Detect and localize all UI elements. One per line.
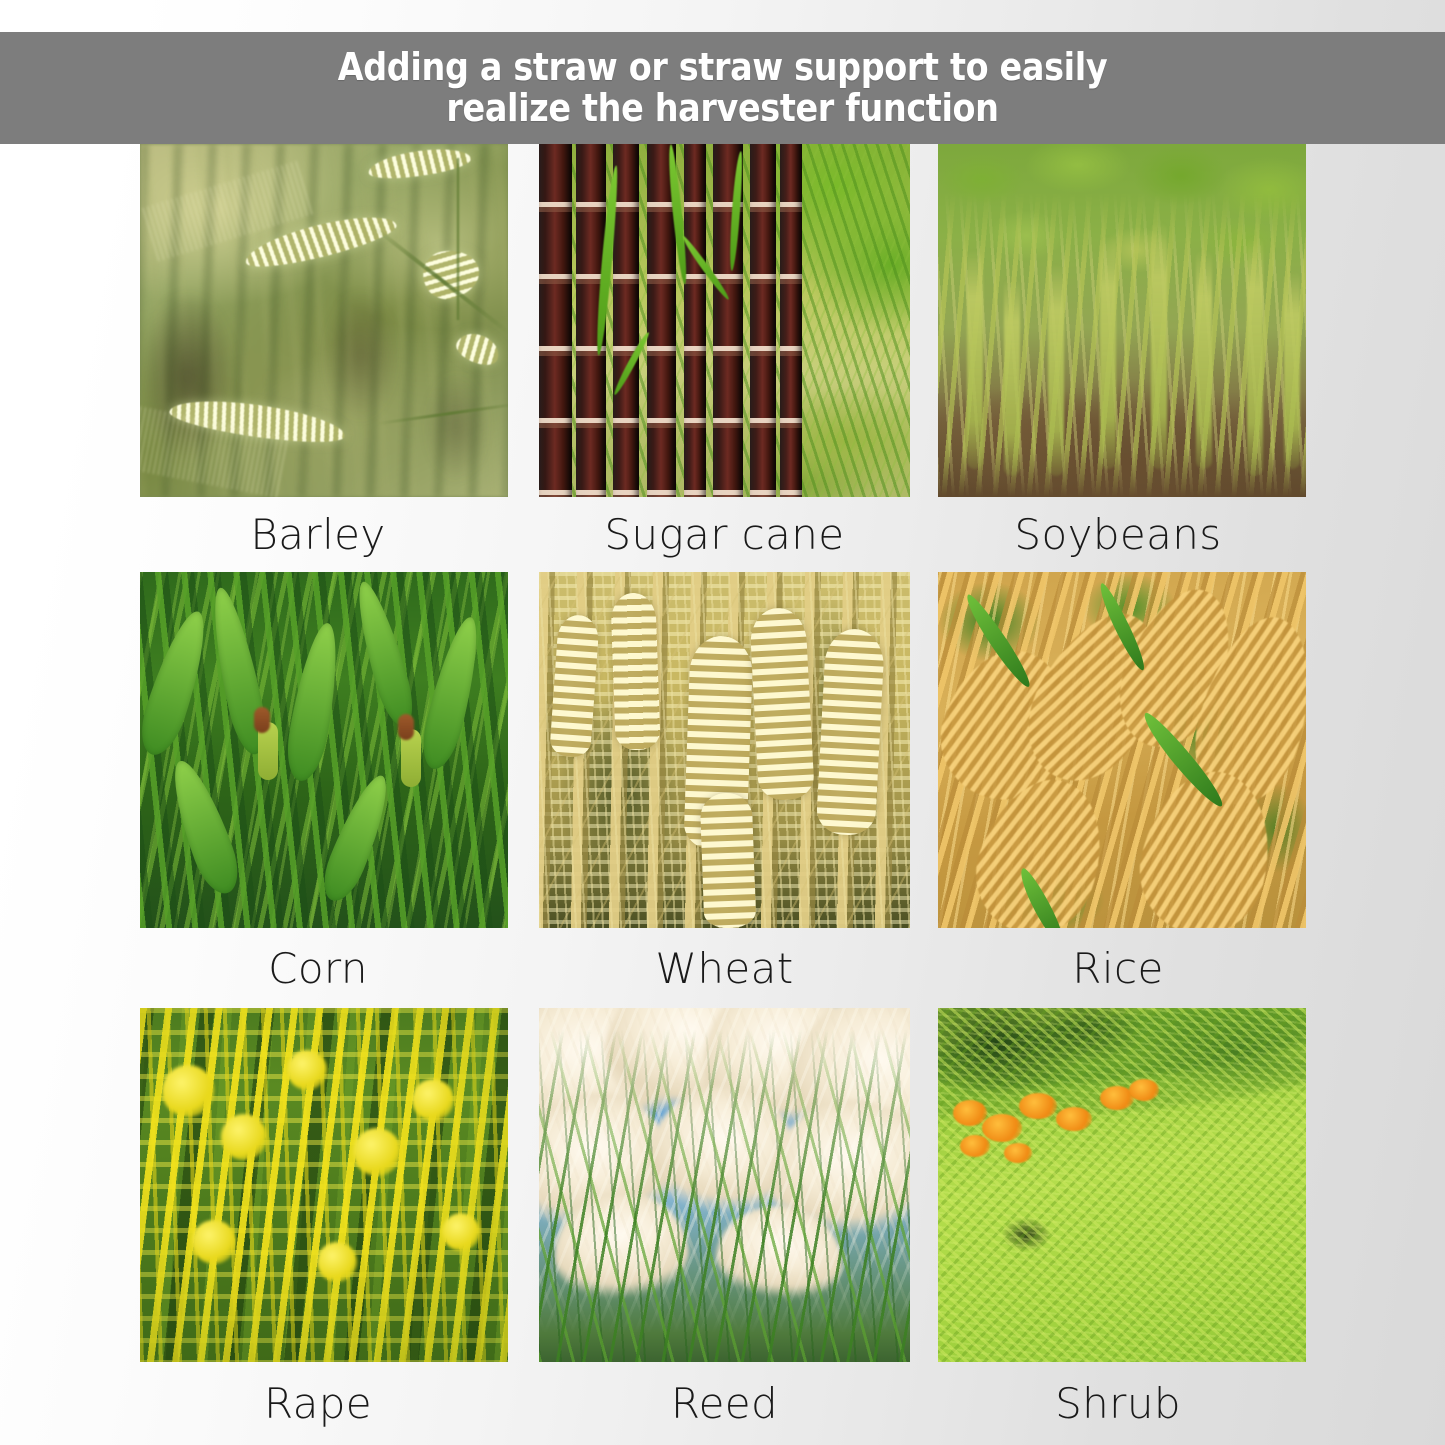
grid-item-reed: Reed (539, 1008, 910, 1445)
grid-item-soybeans: Soybeans (938, 144, 1306, 572)
grid-item-rape: Rape (140, 1008, 508, 1445)
grid-item-rice: Rice (938, 572, 1306, 1008)
crop-label-corn: Corn (134, 928, 502, 1008)
crop-label-sugar-cane: Sugar cane (539, 497, 910, 572)
crop-label-rape: Rape (134, 1362, 502, 1445)
reed-image (539, 1008, 910, 1362)
header-banner: Adding a straw or straw support to easil… (0, 32, 1445, 144)
infographic-page: Adding a straw or straw support to easil… (0, 0, 1445, 1445)
corn-image (140, 572, 508, 928)
grid-item-barley: Barley (140, 144, 508, 572)
crop-label-rice: Rice (934, 928, 1302, 1008)
grid-item-sugar-cane: Sugar cane (539, 144, 910, 572)
sugar-cane-image (539, 144, 910, 497)
crop-label-shrub: Shrub (934, 1362, 1302, 1445)
rice-image (938, 572, 1306, 928)
grid-item-shrub: Shrub (938, 1008, 1306, 1445)
crop-label-soybeans: Soybeans (934, 497, 1302, 572)
crop-grid: Barley Suga (140, 144, 1306, 1445)
barley-image (140, 144, 508, 497)
wheat-image (539, 572, 910, 928)
crop-label-reed: Reed (539, 1362, 910, 1445)
grid-item-wheat: Wheat (539, 572, 910, 1008)
grid-item-corn: Corn (140, 572, 508, 1008)
rape-image (140, 1008, 508, 1362)
shrub-image (938, 1008, 1306, 1362)
crop-label-wheat: Wheat (539, 928, 910, 1008)
soybeans-image (938, 144, 1306, 497)
banner-headline: Adding a straw or straw support to easil… (87, 47, 1359, 129)
crop-label-barley: Barley (134, 497, 502, 572)
